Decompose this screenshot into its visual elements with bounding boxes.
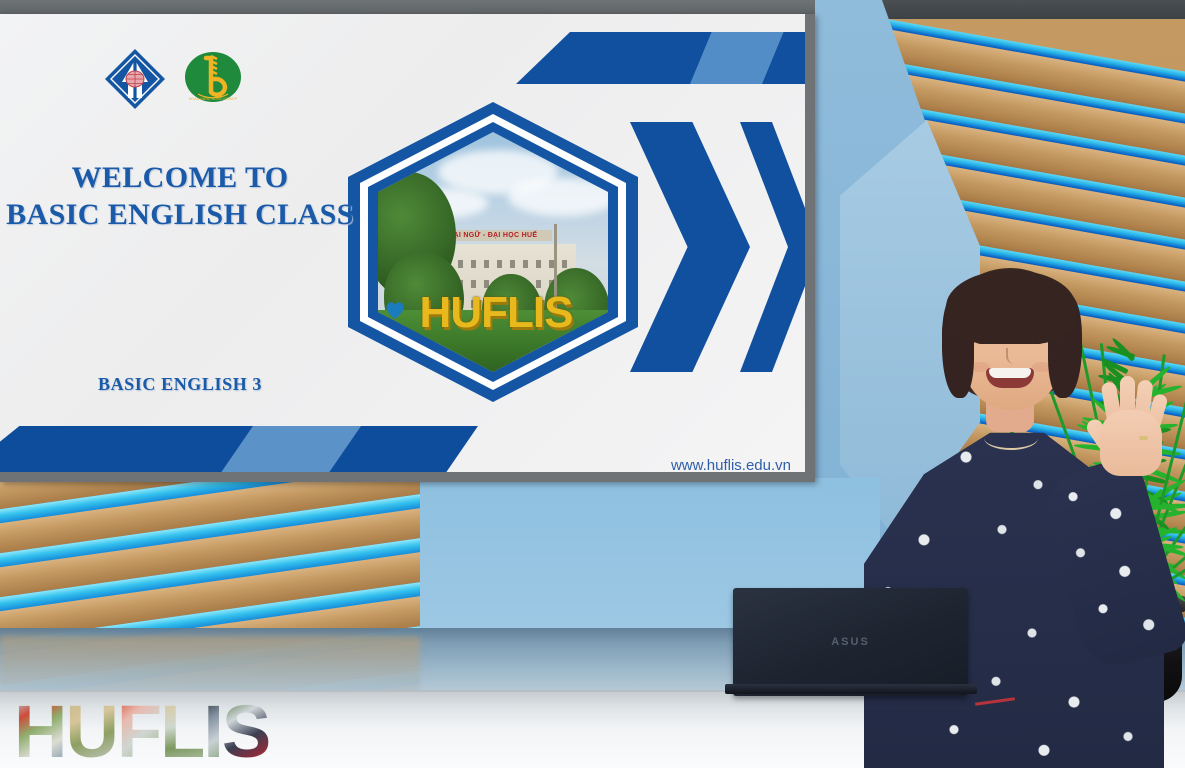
huflis-letter: U — [65, 701, 116, 764]
floor-reflection — [0, 636, 420, 694]
hue-university-logo-icon — [104, 48, 166, 110]
presenter-hair-fringe — [946, 270, 1076, 344]
huflis-hexagon-badge: NGOẠI NGỮ - ĐẠI HỌC HUẾ HUFLIS — [348, 102, 638, 402]
svg-text:NGAN HANG NONG NGHIEP: NGAN HANG NONG NGHIEP — [189, 97, 238, 101]
laptop-lid: ASUS — [733, 588, 968, 696]
palm — [1100, 410, 1162, 476]
presenter-mouth — [986, 368, 1034, 388]
huflis-letter: S — [222, 701, 269, 764]
slide-title-line2: BASIC ENGLISH CLASS — [0, 197, 360, 234]
presentation-slide[interactable]: NGAN HANG NONG NGHIEP — [0, 14, 805, 472]
presenter-teeth — [989, 368, 1031, 378]
presenter-waving-hand — [1090, 376, 1170, 480]
slide-title-line1: WELCOME TO — [0, 160, 360, 197]
huflis-letter: I — [203, 701, 222, 764]
huflis-letter: L — [160, 701, 203, 764]
presenter-necklace — [984, 426, 1038, 450]
asus-logo: ASUS — [831, 636, 870, 648]
slide-subtitle: BASIC ENGLISH 3 — [0, 374, 360, 395]
presenter-nose — [1006, 348, 1018, 364]
decor-chevron — [630, 122, 750, 372]
presentation-slide-frame[interactable]: NGAN HANG NONG NGHIEP — [0, 14, 815, 482]
slide-title: WELCOME TO BASIC ENGLISH CLASS — [0, 160, 360, 233]
broadcast-frame: H U F L I S — [0, 0, 1185, 768]
window-top-bar — [0, 0, 815, 14]
agribank-logo-icon: NGAN HANG NONG NGHIEP — [184, 50, 242, 108]
huflis-letter: F — [117, 701, 160, 764]
slide-website-url[interactable]: www.huflis.edu.vn — [671, 457, 791, 472]
finger-ring — [1139, 436, 1148, 440]
laptop[interactable]: ASUS — [733, 588, 968, 706]
huflis-letter: H — [14, 701, 65, 764]
huflis-photo-wordmark: H U F L I S — [14, 694, 264, 764]
slide-logos: NGAN HANG NONG NGHIEP — [104, 48, 264, 110]
laptop-hinge — [725, 684, 977, 694]
